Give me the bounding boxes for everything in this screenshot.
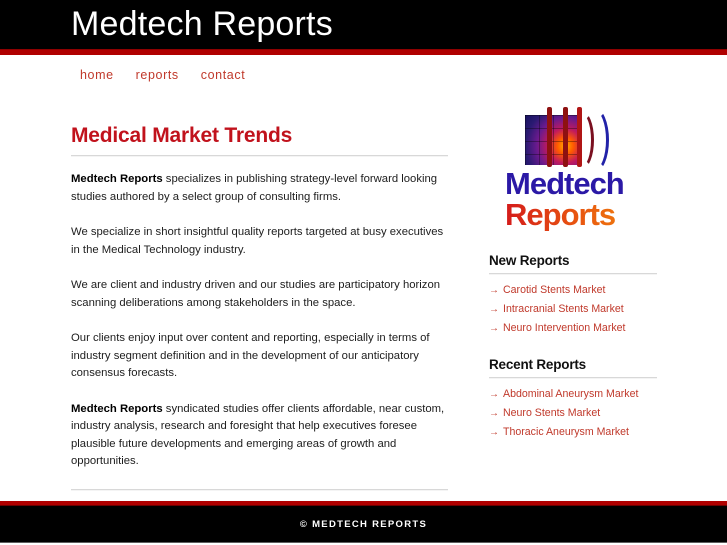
site-footer: © MEDTECH REPORTS bbox=[0, 506, 727, 543]
copyright-text: © MEDTECH REPORTS bbox=[300, 519, 427, 530]
nav-item-home[interactable]: home bbox=[80, 68, 114, 82]
recent-report-link-thoracic-aneurysm[interactable]: → Thoracic Aneurysm Market bbox=[489, 426, 657, 439]
logo-word-medtech: Medtech bbox=[505, 169, 661, 199]
main-content: Medical Market Trends Medtech Reports sp… bbox=[71, 124, 448, 491]
arrow-right-icon: → bbox=[489, 323, 499, 335]
logo-blue-arc-icon bbox=[581, 108, 609, 172]
new-report-link-neuro-intervention[interactable]: → Neuro Intervention Market bbox=[489, 322, 657, 335]
arrow-right-icon: → bbox=[489, 285, 499, 297]
nav-item-reports[interactable]: reports bbox=[136, 68, 179, 82]
paragraph-3: We are client and industry driven and ou… bbox=[71, 277, 448, 312]
new-reports-section: New Reports → Carotid Stents Market → In… bbox=[489, 253, 657, 335]
site-header: Medtech Reports bbox=[0, 0, 727, 49]
page-body: Medical Market Trends Medtech Reports sp… bbox=[0, 95, 727, 501]
nav-item-contact[interactable]: contact bbox=[201, 68, 246, 82]
site-title: Medtech Reports bbox=[71, 2, 333, 46]
recent-reports-section: Recent Reports → Abdominal Aneurysm Mark… bbox=[489, 357, 657, 439]
paragraph-3-text: We are client and industry driven and ou… bbox=[71, 279, 440, 309]
paragraph-2: We specialize in short insightful qualit… bbox=[71, 224, 448, 259]
logo-bar-1 bbox=[547, 107, 552, 167]
recent-report-link-neuro-stents[interactable]: → Neuro Stents Market bbox=[489, 407, 657, 420]
new-report-link-label: Intracranial Stents Market bbox=[503, 303, 624, 316]
arrow-right-icon: → bbox=[489, 304, 499, 316]
new-report-link-label: Neuro Intervention Market bbox=[503, 322, 625, 335]
recent-report-link-label: Abdominal Aneurysm Market bbox=[503, 388, 638, 401]
arrow-right-icon: → bbox=[489, 427, 499, 439]
paragraph-4-text: Our clients enjoy input over content and… bbox=[71, 332, 430, 379]
paragraph-5-lead: Medtech Reports bbox=[71, 403, 163, 415]
paragraph-1: Medtech Reports specializes in publishin… bbox=[71, 171, 448, 206]
recent-report-link-abdominal-aneurysm[interactable]: → Abdominal Aneurysm Market bbox=[489, 388, 657, 401]
recent-reports-divider bbox=[489, 377, 657, 379]
main-navigation: home reports contact bbox=[0, 55, 727, 95]
paragraph-5: Medtech Reports syndicated studies offer… bbox=[71, 401, 448, 471]
paragraph-4: Our clients enjoy input over content and… bbox=[71, 330, 448, 383]
new-reports-title: New Reports bbox=[489, 253, 657, 268]
new-report-link-label: Carotid Stents Market bbox=[503, 284, 605, 297]
arrow-right-icon: → bbox=[489, 389, 499, 401]
logo-bar-2 bbox=[563, 107, 568, 167]
logo-graphic-icon bbox=[515, 105, 643, 169]
arrow-right-icon: → bbox=[489, 408, 499, 420]
recent-report-link-label: Thoracic Aneurysm Market bbox=[503, 426, 629, 439]
title-divider bbox=[71, 155, 448, 157]
paragraph-2-text: We specialize in short insightful qualit… bbox=[71, 226, 443, 256]
page-title: Medical Market Trends bbox=[71, 124, 448, 148]
new-report-link-carotid-stents[interactable]: → Carotid Stents Market bbox=[489, 284, 657, 297]
new-report-link-intracranial-stents[interactable]: → Intracranial Stents Market bbox=[489, 303, 657, 316]
content-bottom-divider bbox=[71, 489, 448, 491]
recent-reports-title: Recent Reports bbox=[489, 357, 657, 372]
sidebar: Medtech Reports New Reports → Carotid St… bbox=[489, 105, 657, 461]
new-reports-divider bbox=[489, 273, 657, 275]
logo-word-reports: Reports bbox=[505, 199, 661, 231]
recent-report-link-label: Neuro Stents Market bbox=[503, 407, 600, 420]
paragraph-1-lead: Medtech Reports bbox=[71, 173, 163, 185]
medtech-reports-logo: Medtech Reports bbox=[501, 105, 661, 231]
